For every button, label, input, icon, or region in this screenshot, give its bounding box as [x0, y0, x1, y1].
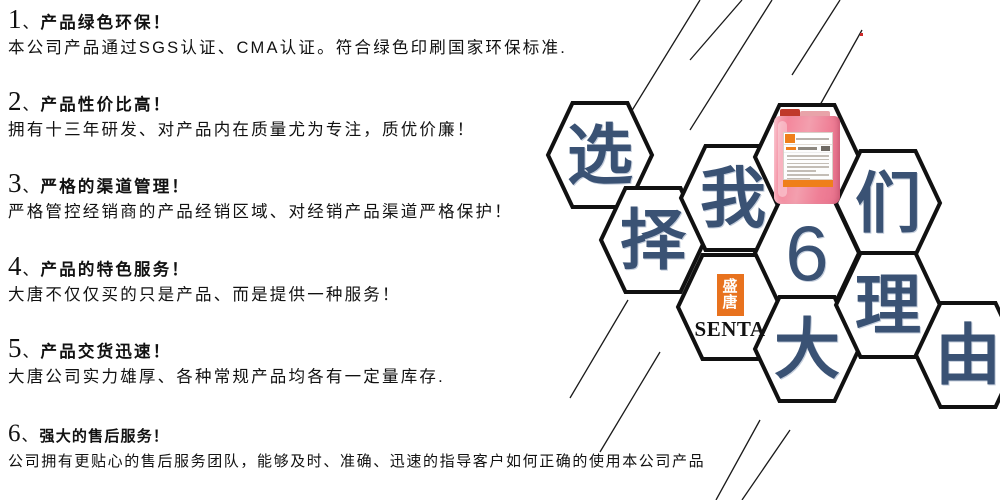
brand-wordmark: SENTA [695, 318, 766, 340]
reason-item-1: 1 、 产品绿色环保！ 本公司产品通过SGS认证、CMA认证。符合绿色印刷国家环… [8, 6, 567, 58]
reason-heading: 1 、 产品绿色环保！ [8, 6, 567, 33]
reason-number: 4 [8, 253, 22, 280]
reason-number: 2 [8, 88, 22, 115]
reason-separator: 、 [23, 180, 39, 196]
label-cell-c [821, 146, 830, 151]
hex-cell-you: 由 [913, 300, 1000, 410]
hex-cell-men: 们 [833, 148, 943, 258]
hex-label: 理 [855, 272, 921, 338]
hex-label: 我 [700, 165, 766, 231]
hex-label: 6 [785, 214, 828, 292]
reason-body: 严格管控经销商的产品经销区域、对经销产品渠道严格保护！ [8, 202, 513, 222]
reason-title: 严格的渠道管理！ [41, 178, 191, 196]
label-text-line [787, 163, 829, 165]
reason-heading: 5 、 产品交货迅速！ [8, 335, 445, 362]
reason-title: 产品绿色环保！ [41, 14, 172, 32]
label-text-line [787, 174, 829, 176]
label-cell-a [786, 147, 796, 150]
label-footer-band [783, 180, 833, 187]
label-title-line [796, 138, 829, 140]
reason-number: 3 [8, 170, 22, 197]
reason-separator: 、 [23, 98, 39, 114]
seal-icon: 盛 唐 [717, 274, 744, 316]
hex-label: 由 [935, 322, 1000, 388]
reason-number: 5 [8, 335, 22, 362]
reason-separator: 、 [23, 345, 39, 361]
reason-body: 公司拥有更贴心的售后服务团队，能够及时、准确、迅速的指导客户如何正确的使用本公司… [8, 452, 998, 472]
reasons-list: 1 、 产品绿色环保！ 本公司产品通过SGS认证、CMA认证。符合绿色印刷国家环… [0, 0, 660, 500]
reason-number: 6 [8, 420, 21, 447]
reason-item-2: 2 、 产品性价比高！ 拥有十三年研发、对产品内在质量尤为专注，质优价廉！ [8, 88, 476, 140]
reason-heading: 2 、 产品性价比高！ [8, 88, 476, 115]
reason-title: 产品性价比高！ [41, 96, 172, 114]
reason-body: 大唐公司实力雄厚、各种常规产品均各有一定量库存. [8, 367, 445, 387]
jerrycan-label [783, 132, 833, 180]
hex-label: 们 [855, 170, 921, 236]
seal-char-bottom: 唐 [722, 295, 737, 311]
label-text-block [784, 153, 832, 180]
label-cell-b [798, 147, 817, 150]
label-text-line [787, 159, 829, 161]
label-text-line [787, 166, 829, 168]
reason-heading: 3 、 严格的渠道管理！ [8, 170, 513, 197]
reason-heading: 6 、 强大的售后服务！ [8, 420, 998, 447]
seal-char-top: 盛 [722, 279, 737, 295]
label-header [784, 133, 832, 145]
reason-separator: 、 [23, 16, 39, 32]
reason-item-3: 3 、 严格的渠道管理！ 严格管控经销商的产品经销区域、对经销产品渠道严格保护！ [8, 170, 513, 222]
label-text-line [787, 170, 816, 172]
reason-body: 大唐不仅仅买的只是产品、而是提供一种服务！ [8, 285, 401, 305]
reason-heading: 4 、 产品的特色服务！ [8, 253, 401, 280]
reason-separator: 、 [22, 429, 38, 445]
product-jerrycan-image [770, 109, 844, 205]
hex-label: 大 [774, 316, 840, 382]
label-logo-square [785, 134, 795, 143]
reason-body: 拥有十三年研发、对产品内在质量尤为专注，质优价廉！ [8, 120, 476, 140]
promo-banner: 1 、 产品绿色环保！ 本公司产品通过SGS认证、CMA认证。符合绿色印刷国家环… [0, 0, 1000, 500]
reason-title: 产品交货迅速！ [41, 343, 172, 361]
brand-logo: 盛 唐 SENTA [695, 274, 766, 340]
reason-number: 1 [8, 6, 22, 33]
reason-item-5: 5 、 产品交货迅速！ 大唐公司实力雄厚、各种常规产品均各有一定量库存. [8, 335, 445, 387]
reason-item-4: 4 、 产品的特色服务！ 大唐不仅仅买的只是产品、而是提供一种服务！ [8, 253, 401, 305]
reason-body: 本公司产品通过SGS认证、CMA认证。符合绿色印刷国家环保标准. [8, 38, 567, 58]
reason-separator: 、 [23, 263, 39, 279]
label-text-line [787, 155, 829, 157]
reason-title: 强大的售后服务！ [40, 428, 170, 446]
reason-item-6: 6 、 强大的售后服务！ 公司拥有更贴心的售后服务团队，能够及时、准确、迅速的指… [8, 420, 998, 472]
label-row [784, 145, 832, 153]
reason-title: 产品的特色服务！ [41, 261, 191, 279]
